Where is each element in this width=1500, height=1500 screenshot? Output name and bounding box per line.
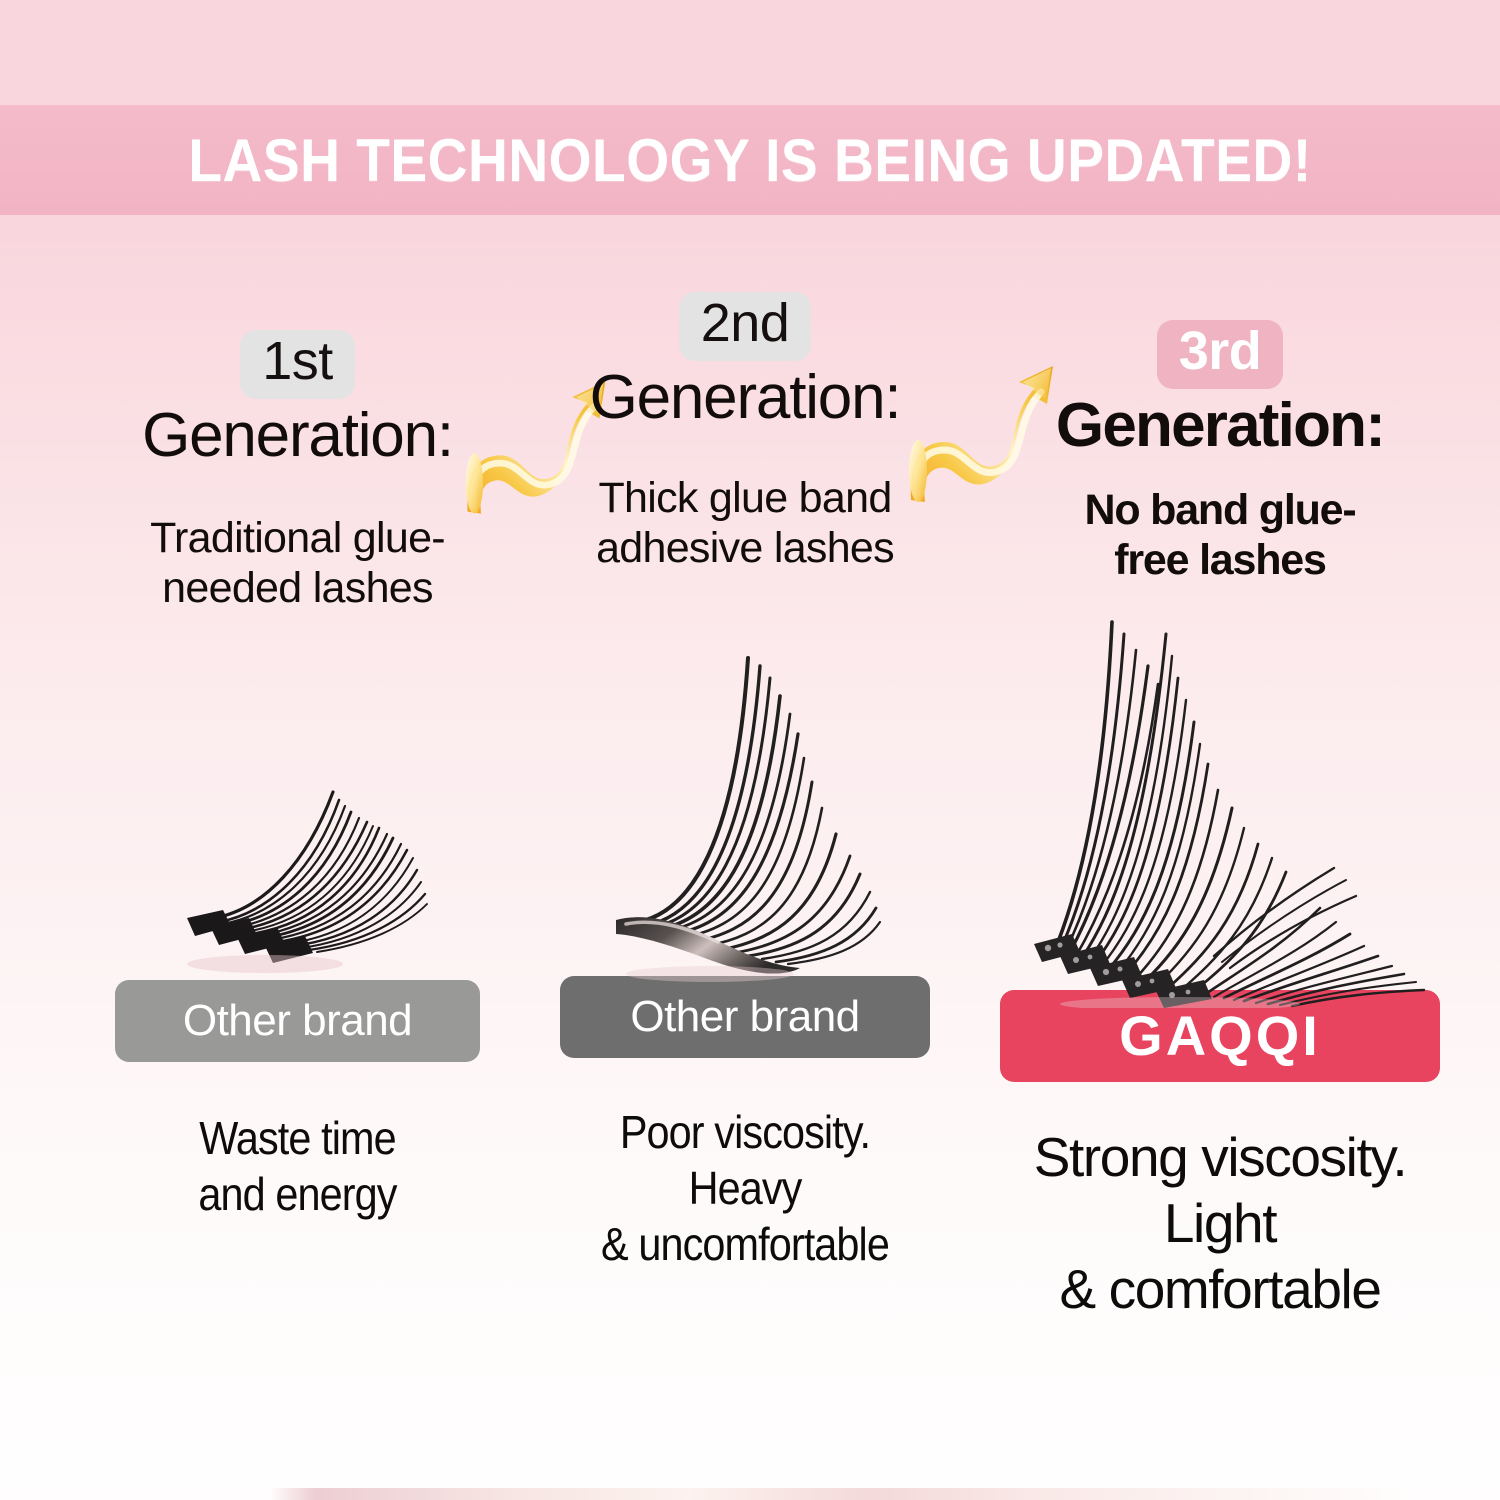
lash-image-3 <box>1000 600 1440 1008</box>
generation-column-2: 2nd Generation: Thick glue band adhesive… <box>560 292 930 1272</box>
column-3-description-line-1: No band glue- <box>1000 486 1440 536</box>
caption-2-line-2: & uncomfortable <box>579 1216 912 1272</box>
caption-2-line-1: Poor viscosity. Heavy <box>579 1104 912 1216</box>
caption-3-line-2: & comfortable <box>1000 1256 1440 1322</box>
column-3-description-line-2: free lashes <box>1000 536 1440 586</box>
column-1-heading: 1st Generation: <box>115 330 480 470</box>
next-section-edge <box>0 1488 1500 1500</box>
page-title: LASH TECHNOLOGY IS BEING UPDATED! <box>60 106 1440 214</box>
column-2-description: Thick glue band adhesive lashes <box>560 474 930 574</box>
lash-image-1 <box>115 646 480 976</box>
brand-badge-2: Other brand <box>560 976 930 1058</box>
column-1-description: Traditional glue- needed lashes <box>115 514 480 614</box>
column-3-heading: 3rd Generation: <box>1000 320 1440 460</box>
ordinal-badge-1st: 1st <box>240 330 355 399</box>
brand-label-1: Other brand <box>183 996 412 1046</box>
generation-column-1: 1st Generation: Traditional glue- needed… <box>115 330 480 1222</box>
generation-label-1: Generation: <box>115 403 480 470</box>
brand-badge-1: Other brand <box>115 980 480 1062</box>
caption-2: Poor viscosity. Heavy & uncomfortable <box>579 1104 912 1272</box>
column-1-description-line-2: needed lashes <box>115 564 480 614</box>
column-2-description-line-1: Thick glue band <box>560 474 930 524</box>
caption-3-line-1: Strong viscosity. Light <box>1000 1124 1440 1256</box>
generation-label-3: Generation: <box>1000 393 1440 460</box>
column-3-description: No band glue- free lashes <box>1000 486 1440 586</box>
caption-3: Strong viscosity. Light & comfortable <box>1000 1124 1440 1322</box>
column-1-description-line-1: Traditional glue- <box>115 514 480 564</box>
column-2-heading: 2nd Generation: <box>560 292 930 432</box>
ordinal-badge-2nd: 2nd <box>679 292 812 361</box>
brand-label-2: Other brand <box>630 992 859 1042</box>
comparison-columns: 1st Generation: Traditional glue- needed… <box>0 330 1500 1390</box>
ordinal-badge-3rd: 3rd <box>1157 320 1284 389</box>
generation-column-3: 3rd Generation: No band glue- free lashe… <box>1000 320 1440 1322</box>
lash-image-2 <box>560 622 930 982</box>
caption-1: Waste time and energy <box>133 1110 462 1222</box>
caption-1-line-2: and energy <box>133 1166 462 1222</box>
generation-label-2: Generation: <box>560 365 930 432</box>
caption-1-line-1: Waste time <box>133 1110 462 1166</box>
brand-label-3: GAQQI <box>1119 1003 1321 1068</box>
column-2-description-line-2: adhesive lashes <box>560 524 930 574</box>
lash-technology-infographic: LASH TECHNOLOGY IS BEING UPDATED! <box>0 0 1500 1500</box>
